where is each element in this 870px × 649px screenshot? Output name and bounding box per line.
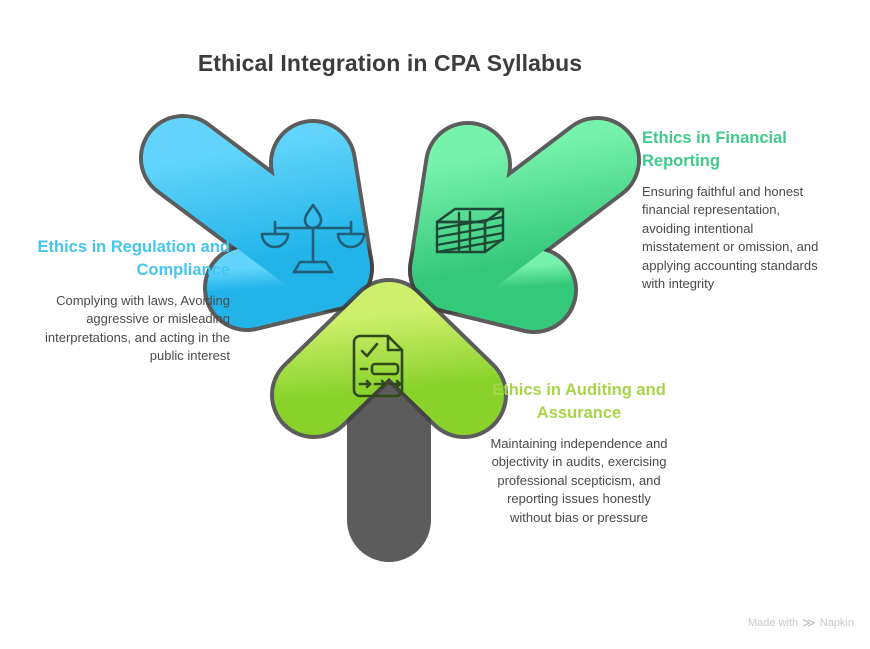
branch-auditing-heading: Ethics in Auditing and Assurance	[486, 379, 672, 426]
watermark-brand: Napkin	[820, 617, 854, 629]
branch-financial-heading: Ethics in Financial Reporting	[642, 127, 824, 174]
branch-regulation-body: Complying with laws, Avoiding aggressive…	[36, 292, 230, 366]
napkin-watermark: Made with ≫ Napkin	[748, 615, 854, 631]
watermark-prefix: Made with	[748, 617, 798, 629]
branch-financial: Ethics in Financial Reporting Ensuring f…	[642, 127, 824, 294]
branch-financial-body: Ensuring faithful and honest financial r…	[642, 183, 824, 294]
branch-regulation: Ethics in Regulation and Compliance Comp…	[36, 236, 230, 366]
page-title: Ethical Integration in CPA Syllabus	[0, 50, 780, 77]
arrow-auditing	[314, 322, 464, 520]
arrow-financial	[452, 160, 597, 290]
branch-regulation-heading: Ethics in Regulation and Compliance	[36, 236, 230, 283]
branch-auditing: Ethics in Auditing and Assurance Maintai…	[486, 379, 672, 527]
infographic-canvas: Ethical Integration in CPA Syllabus	[0, 0, 870, 649]
branch-auditing-body: Maintaining independence and objectivity…	[486, 435, 672, 527]
cash-stack-icon	[437, 209, 503, 252]
napkin-logo-icon: ≫	[802, 615, 816, 631]
balance-scale-icon	[262, 205, 364, 272]
audit-document-icon	[354, 336, 402, 396]
